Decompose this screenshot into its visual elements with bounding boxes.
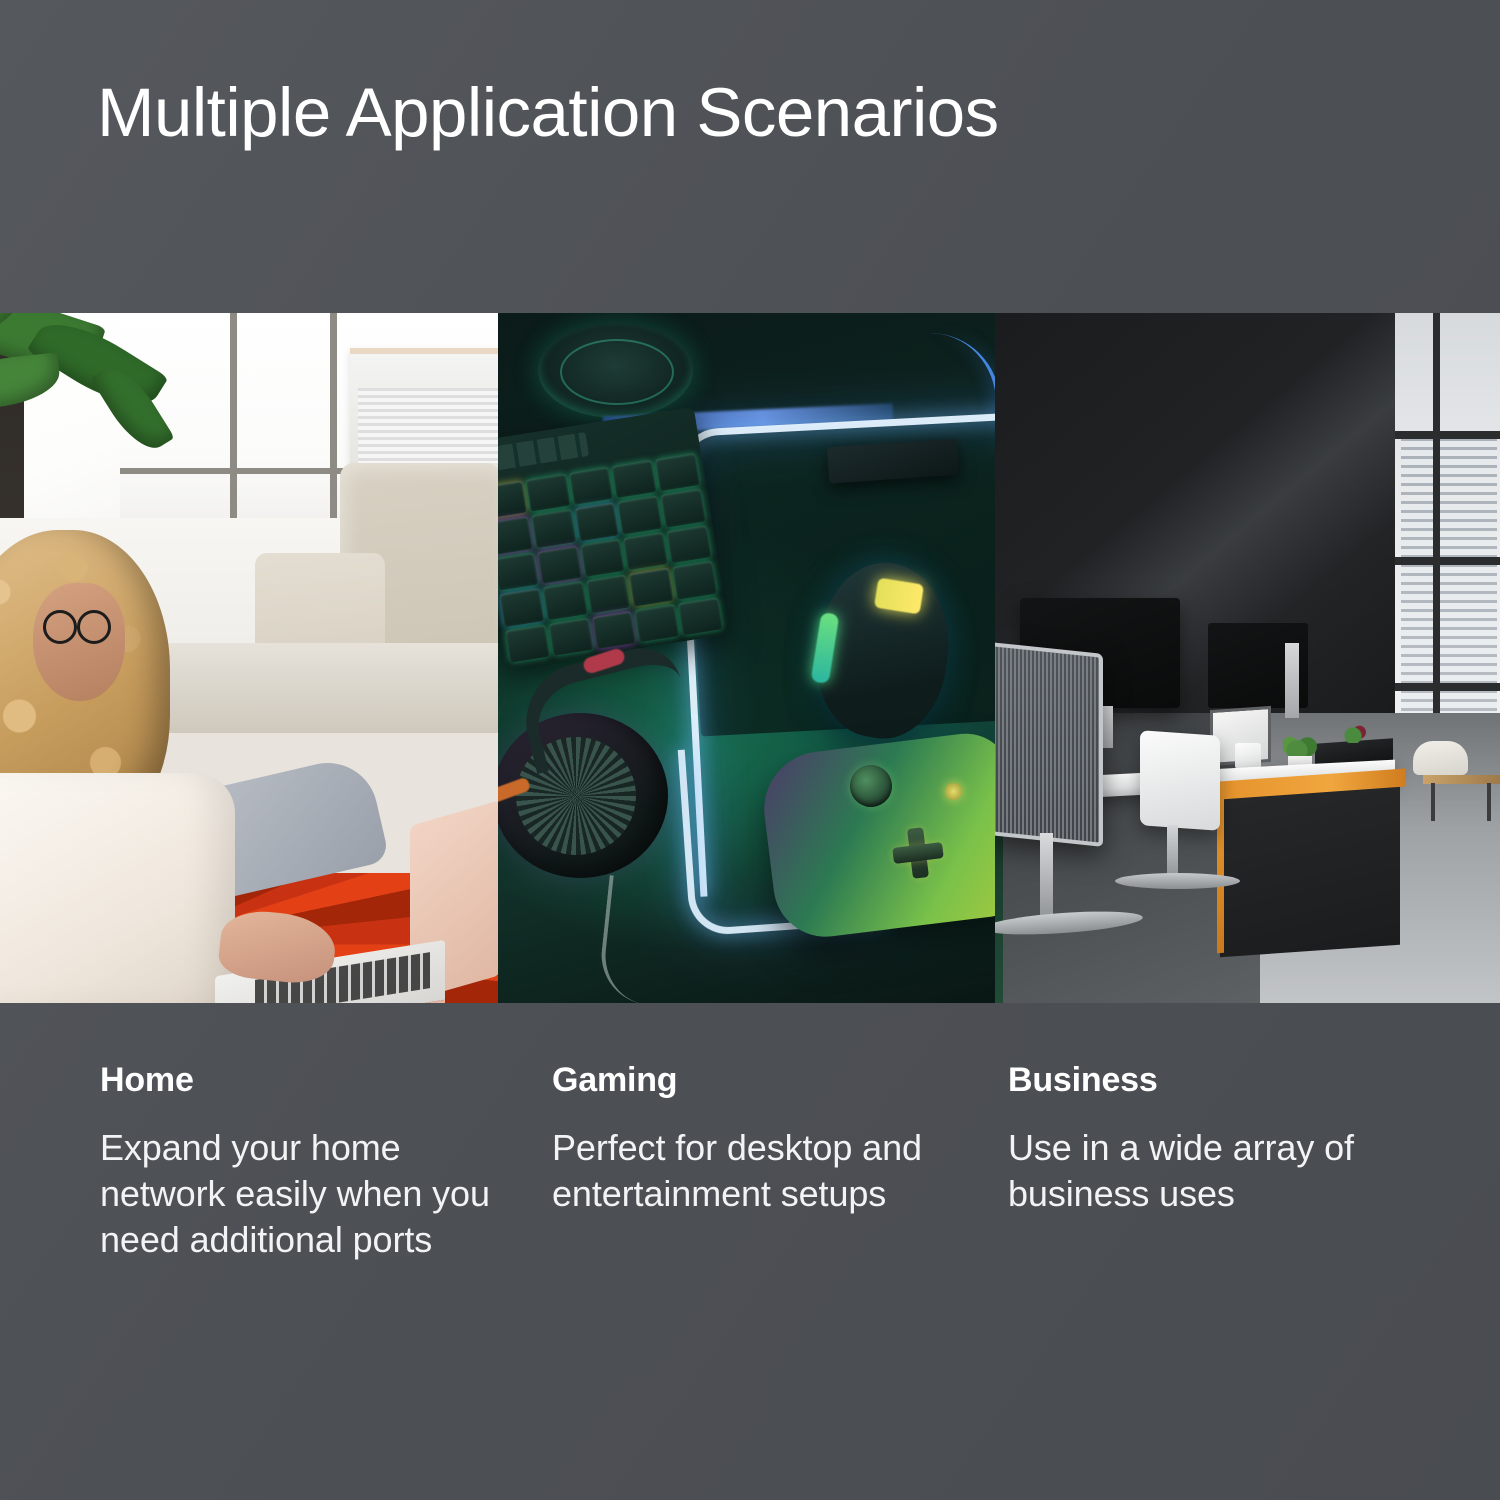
keycap	[678, 597, 722, 635]
gaming-controller-dpad	[890, 825, 946, 881]
gaming-controller	[758, 728, 995, 942]
scenario-image-business	[995, 313, 1500, 1003]
scenario-image-gaming	[498, 313, 995, 1003]
scenario-body-business: Use in a wide array of business uses	[1008, 1125, 1408, 1217]
keycap	[549, 618, 593, 656]
keycap	[575, 503, 619, 541]
business-small-plant	[1340, 725, 1366, 743]
scenario-heading-gaming: Gaming	[552, 1063, 932, 1097]
keycap	[505, 624, 549, 662]
keycap	[543, 582, 587, 620]
scenario-captions: Home Expand your home network easily whe…	[0, 1003, 1500, 1500]
business-chair-mesh	[995, 642, 1103, 847]
scenario-image-band	[0, 313, 1500, 1003]
scenario-caption-home: Home Expand your home network easily whe…	[100, 1063, 500, 1263]
home-person-face	[33, 583, 125, 701]
keycap	[500, 588, 544, 626]
title-bar: Multiple Application Scenarios	[0, 0, 1500, 313]
keycap	[580, 539, 624, 577]
keycap	[661, 489, 705, 527]
scenario-heading-business: Business	[1008, 1063, 1408, 1097]
scenario-body-gaming: Perfect for desktop and entertainment se…	[552, 1125, 932, 1217]
business-desk-panel	[1220, 775, 1400, 958]
business-bench-leg	[1487, 783, 1491, 821]
keycap	[531, 510, 575, 548]
gaming-keypad-keys	[498, 449, 727, 668]
business-chair-white-base	[1115, 873, 1240, 889]
gaming-controller-button	[945, 783, 962, 800]
scenario-heading-home: Home	[100, 1063, 500, 1097]
home-person	[0, 418, 315, 1003]
keycap	[624, 532, 668, 570]
business-chair-mesh-post	[1040, 833, 1053, 923]
scenario-body-home: Expand your home network easily when you…	[100, 1125, 500, 1263]
business-window-mullions	[1395, 313, 1500, 733]
keycap	[635, 604, 679, 642]
business-chair-white-post	[1167, 825, 1178, 880]
keycap	[629, 568, 673, 606]
keycap	[673, 561, 717, 599]
keycap	[592, 611, 636, 649]
scenario-caption-gaming: Gaming Perfect for desktop and entertain…	[552, 1063, 932, 1217]
business-bench-leg	[1431, 783, 1435, 821]
keycap	[526, 474, 570, 512]
keycap	[537, 546, 581, 584]
home-ac-grill	[358, 388, 498, 463]
keycap	[569, 467, 613, 505]
plant-leaf	[0, 352, 62, 411]
keycap	[498, 517, 533, 555]
keycap	[667, 525, 711, 563]
scenarios-page: Multiple Application Scenarios	[0, 0, 1500, 1500]
business-monitor-stand-secondary	[1285, 643, 1299, 718]
glasses-icon	[43, 610, 109, 640]
business-lounge-chair	[1413, 741, 1468, 775]
business-chair-white	[1140, 730, 1220, 831]
home-person-sweater	[0, 773, 235, 1003]
keycap	[612, 460, 656, 498]
scenario-caption-business: Business Use in a wide array of business…	[1008, 1063, 1408, 1217]
scenario-image-home	[0, 313, 498, 1003]
keycap	[498, 552, 538, 590]
gaming-speaker-ring	[560, 339, 674, 405]
keycap	[498, 481, 527, 519]
gaming-keypad	[498, 407, 730, 669]
page-title: Multiple Application Scenarios	[97, 78, 999, 147]
keycap	[586, 575, 630, 613]
keycap	[618, 496, 662, 534]
business-mug	[1235, 743, 1261, 769]
keycap	[656, 453, 700, 491]
home-window-mullion-2	[330, 313, 337, 523]
